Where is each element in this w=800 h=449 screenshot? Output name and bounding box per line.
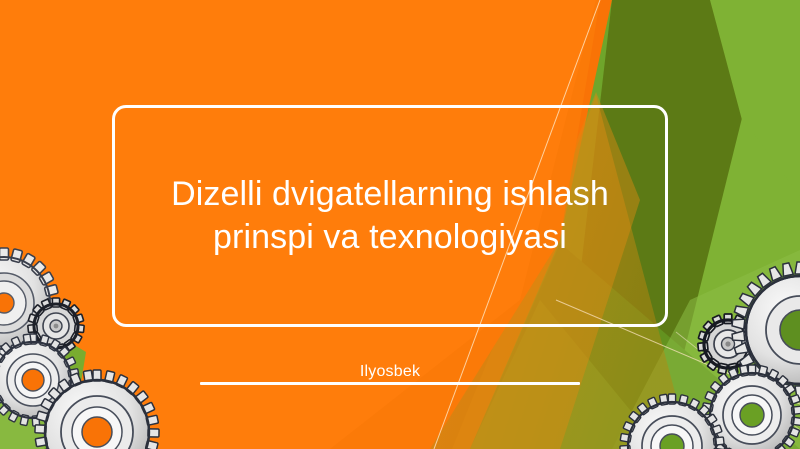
author-subtitle: Ilyosbek bbox=[360, 363, 420, 380]
title-slide: Dizelli dvigatellarning ishlash prinspi … bbox=[0, 0, 800, 449]
subtitle-rule bbox=[200, 382, 580, 385]
page-title: Dizelli dvigatellarning ishlash prinspi … bbox=[115, 173, 665, 259]
title-outline-box: Dizelli dvigatellarning ishlash prinspi … bbox=[112, 105, 668, 327]
subtitle-container: Ilyosbek bbox=[200, 362, 580, 382]
